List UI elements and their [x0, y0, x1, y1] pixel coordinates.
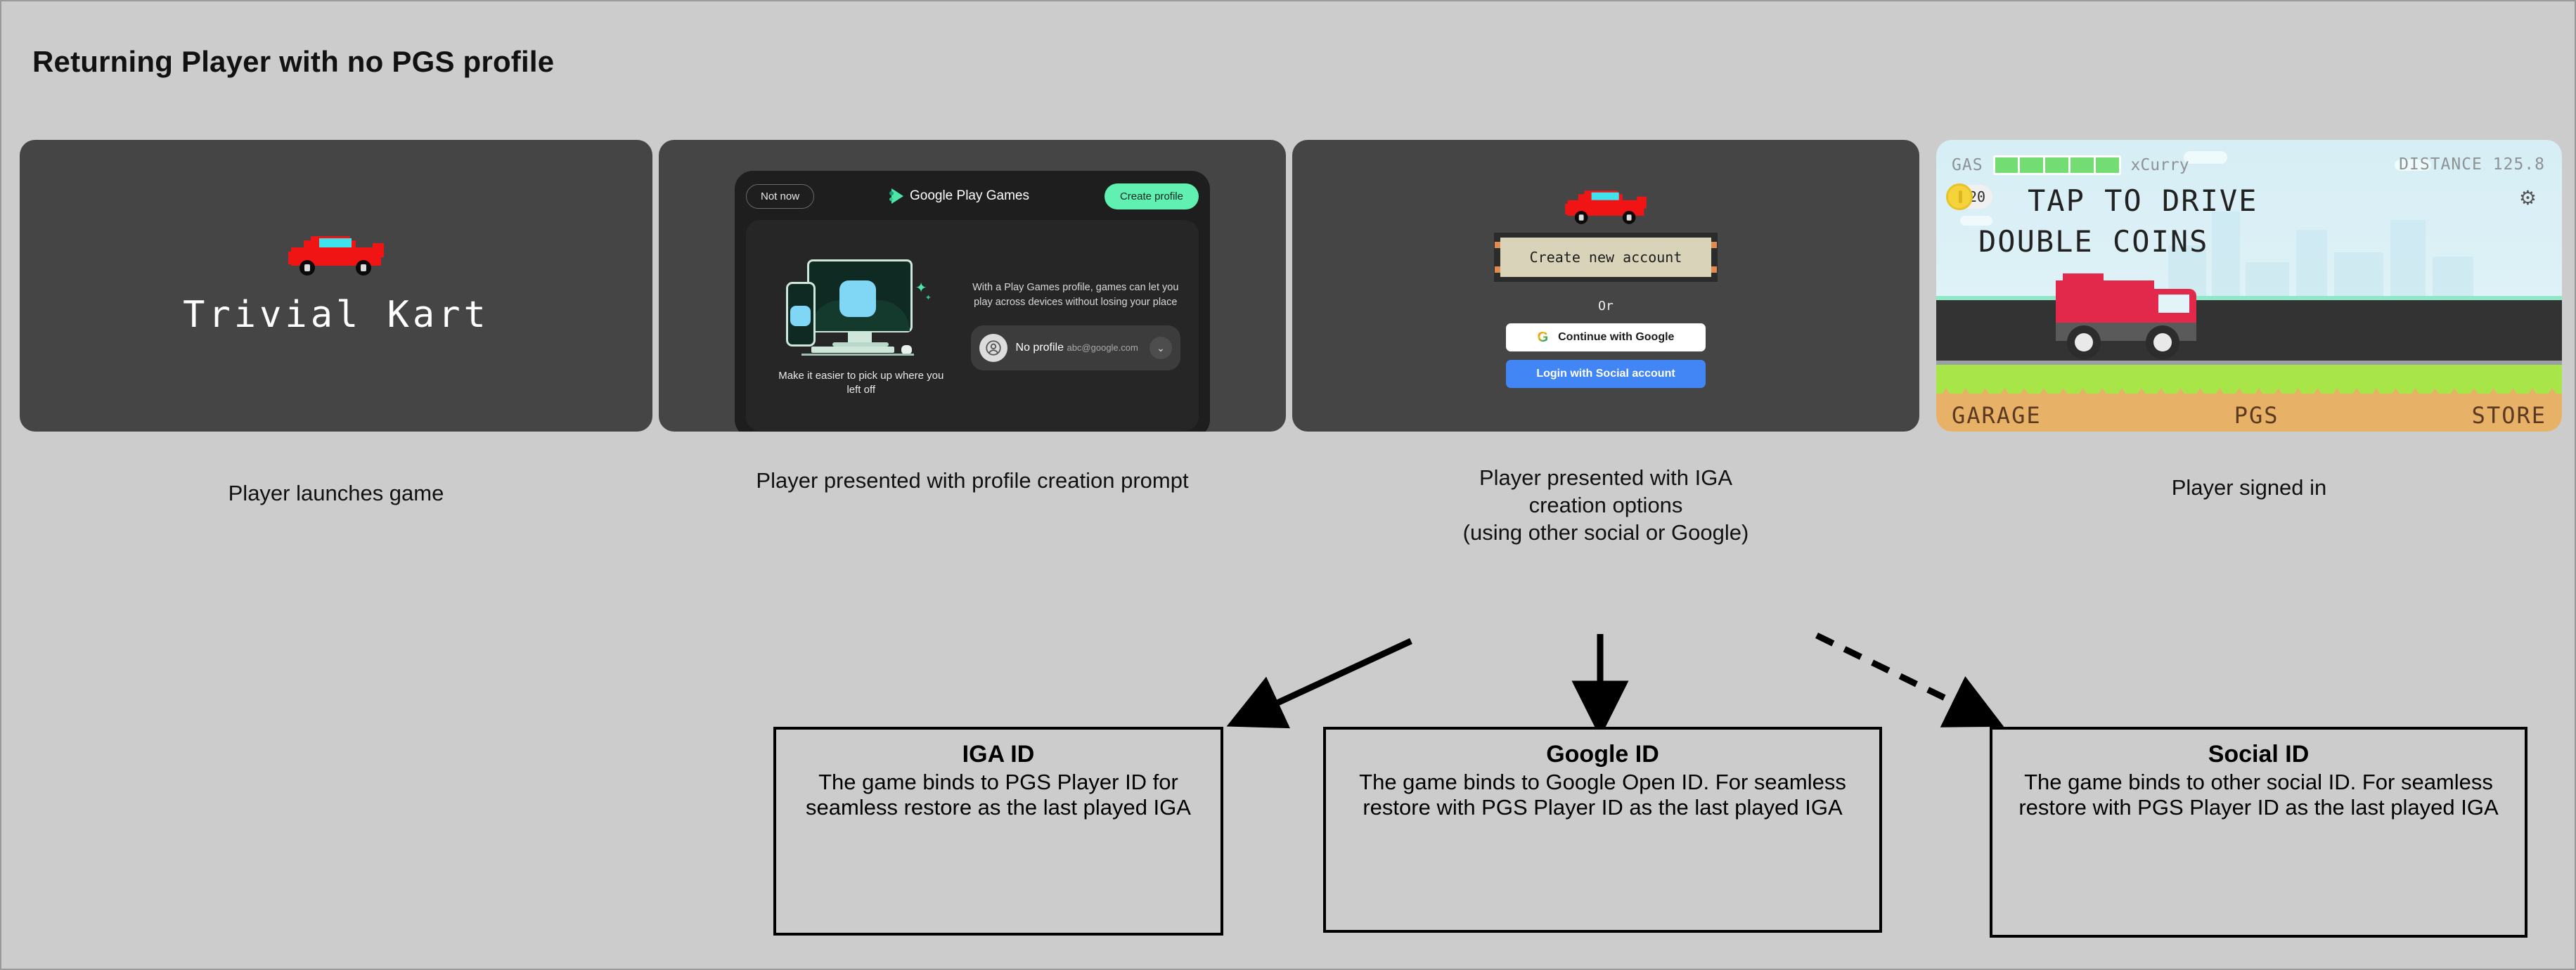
page-title: Returning Player with no PGS profile [32, 45, 554, 79]
profile-name: No profile [1016, 342, 1064, 354]
caption-panel-1: Player launches game [20, 479, 652, 507]
game-icon-small [790, 306, 811, 326]
pgs-brand: Google Play Games [889, 188, 1029, 204]
headline-line-1: TAP TO DRIVE [2028, 183, 2258, 218]
box-title: Google ID [1339, 741, 1867, 768]
profile-selector[interactable]: No profile abc@google.com ⌄ [971, 325, 1180, 370]
caption-line: Player presented with IGA [1292, 464, 1919, 491]
gas-bar [1993, 155, 2121, 175]
coin-icon [1946, 183, 1973, 210]
google-logo-icon: G [1538, 330, 1549, 346]
continue-with-google-button[interactable]: G Continue with Google [1506, 323, 1706, 351]
gas-hud: GAS xCurry [1952, 155, 2189, 175]
arrows-layer [1, 606, 2576, 746]
iga-options-content: Create new account Or G Continue with Go… [1292, 140, 1919, 432]
truck-sprite [2056, 273, 2203, 358]
coin-counter: 20 [1947, 185, 1992, 209]
gear-icon[interactable]: ⚙ [2519, 186, 2537, 209]
brand-label: Google Play Games [910, 188, 1029, 204]
pgs-top-bar: Not now Google Play Games Create profile [746, 181, 1199, 212]
username-label: xCurry [2131, 156, 2189, 174]
caption-line: creation options [1292, 491, 1919, 519]
caption-panel-3: Player presented with IGA creation optio… [1292, 464, 1919, 546]
panel-pgs-profile-prompt: Not now Google Play Games Create profile [659, 140, 1286, 432]
panel-gameplay: GAS xCurry DISTANCE 125.8 ⚙ 20 TAP TO DR… [1936, 140, 2562, 432]
create-new-account-label: Create new account [1530, 249, 1682, 266]
pgs-text-column: With a Play Games profile, games can let… [971, 235, 1180, 415]
or-divider-label: Or [1598, 299, 1614, 313]
sand-zigzag [1936, 388, 2562, 403]
avatar-icon [979, 334, 1007, 362]
box-title: IGA ID [789, 741, 1208, 768]
distance-label: DISTANCE 125.8 [2399, 155, 2545, 174]
game-title: Trivial Kart [183, 294, 489, 336]
sparkle-small-icon: ✦ [925, 293, 932, 302]
panels-row: Trivial Kart Not now Google Play Games C… [1, 140, 2576, 435]
box-title: Social ID [2005, 741, 2512, 768]
game-screen: GAS xCurry DISTANCE 125.8 ⚙ 20 TAP TO DR… [1936, 140, 2562, 432]
nav-store-button[interactable]: STORE [2472, 402, 2546, 429]
pgs-dialog: Not now Google Play Games Create profile [735, 171, 1210, 432]
illustration-caption: Make it easier to pick up where you left… [777, 369, 946, 398]
road [1936, 300, 2562, 361]
splash-content: Trivial Kart [20, 140, 652, 432]
box-body: The game binds to Google Open ID. For se… [1339, 770, 1867, 821]
pixel-car-icon [1565, 190, 1647, 224]
cross-device-illustration: ✦ ✦ [780, 254, 942, 359]
caption-line: (using other social or Google) [1292, 519, 1919, 546]
profile-email: abc@google.com [1067, 342, 1138, 353]
profile-text: No profile abc@google.com [1016, 342, 1141, 354]
nav-garage-button[interactable]: GARAGE [1952, 402, 2042, 429]
arrow-to-iga-id [1241, 641, 1411, 720]
create-profile-button[interactable]: Create profile [1105, 183, 1199, 209]
pixel-car-icon [288, 236, 384, 276]
not-now-button[interactable]: Not now [746, 184, 814, 209]
pgs-dialog-body: ✦ ✦ Make it easier to pick up where you … [746, 220, 1199, 431]
diagram-canvas: Returning Player with no PGS profile Tri… [0, 0, 2576, 970]
chevron-down-icon[interactable]: ⌄ [1149, 337, 1172, 359]
box-iga-id: IGA ID The game binds to PGS Player ID f… [773, 727, 1223, 936]
pgs-description: With a Play Games profile, games can let… [971, 280, 1180, 310]
pgs-illustration-column: ✦ ✦ Make it easier to pick up where you … [764, 235, 958, 415]
arrow-to-social-id [1817, 635, 1990, 720]
box-body: The game binds to PGS Player ID for seam… [789, 770, 1208, 821]
nav-pgs-button[interactable]: PGS [2234, 402, 2279, 429]
caption-panel-4: Player signed in [1936, 474, 2562, 501]
game-icon-large [839, 280, 876, 317]
caption-panel-2: Player presented with profile creation p… [659, 467, 1286, 494]
box-google-id: Google ID The game binds to Google Open … [1323, 727, 1882, 933]
panel-splash-screen: Trivial Kart [20, 140, 652, 432]
headline-line-2: DOUBLE COINS [1978, 224, 2208, 259]
box-body: The game binds to other social ID. For s… [2005, 770, 2512, 821]
play-games-logo-icon [889, 188, 903, 204]
panel-iga-options: Create new account Or G Continue with Go… [1292, 140, 1919, 432]
login-with-social-button[interactable]: Login with Social account [1506, 360, 1706, 388]
gas-label: GAS [1952, 156, 1983, 174]
box-social-id: Social ID The game binds to other social… [1990, 727, 2527, 938]
continue-with-google-label: Continue with Google [1558, 331, 1674, 344]
create-new-account-button[interactable]: Create new account [1500, 233, 1712, 282]
game-nav-bar: GARAGE PGS STORE [1936, 402, 2562, 429]
